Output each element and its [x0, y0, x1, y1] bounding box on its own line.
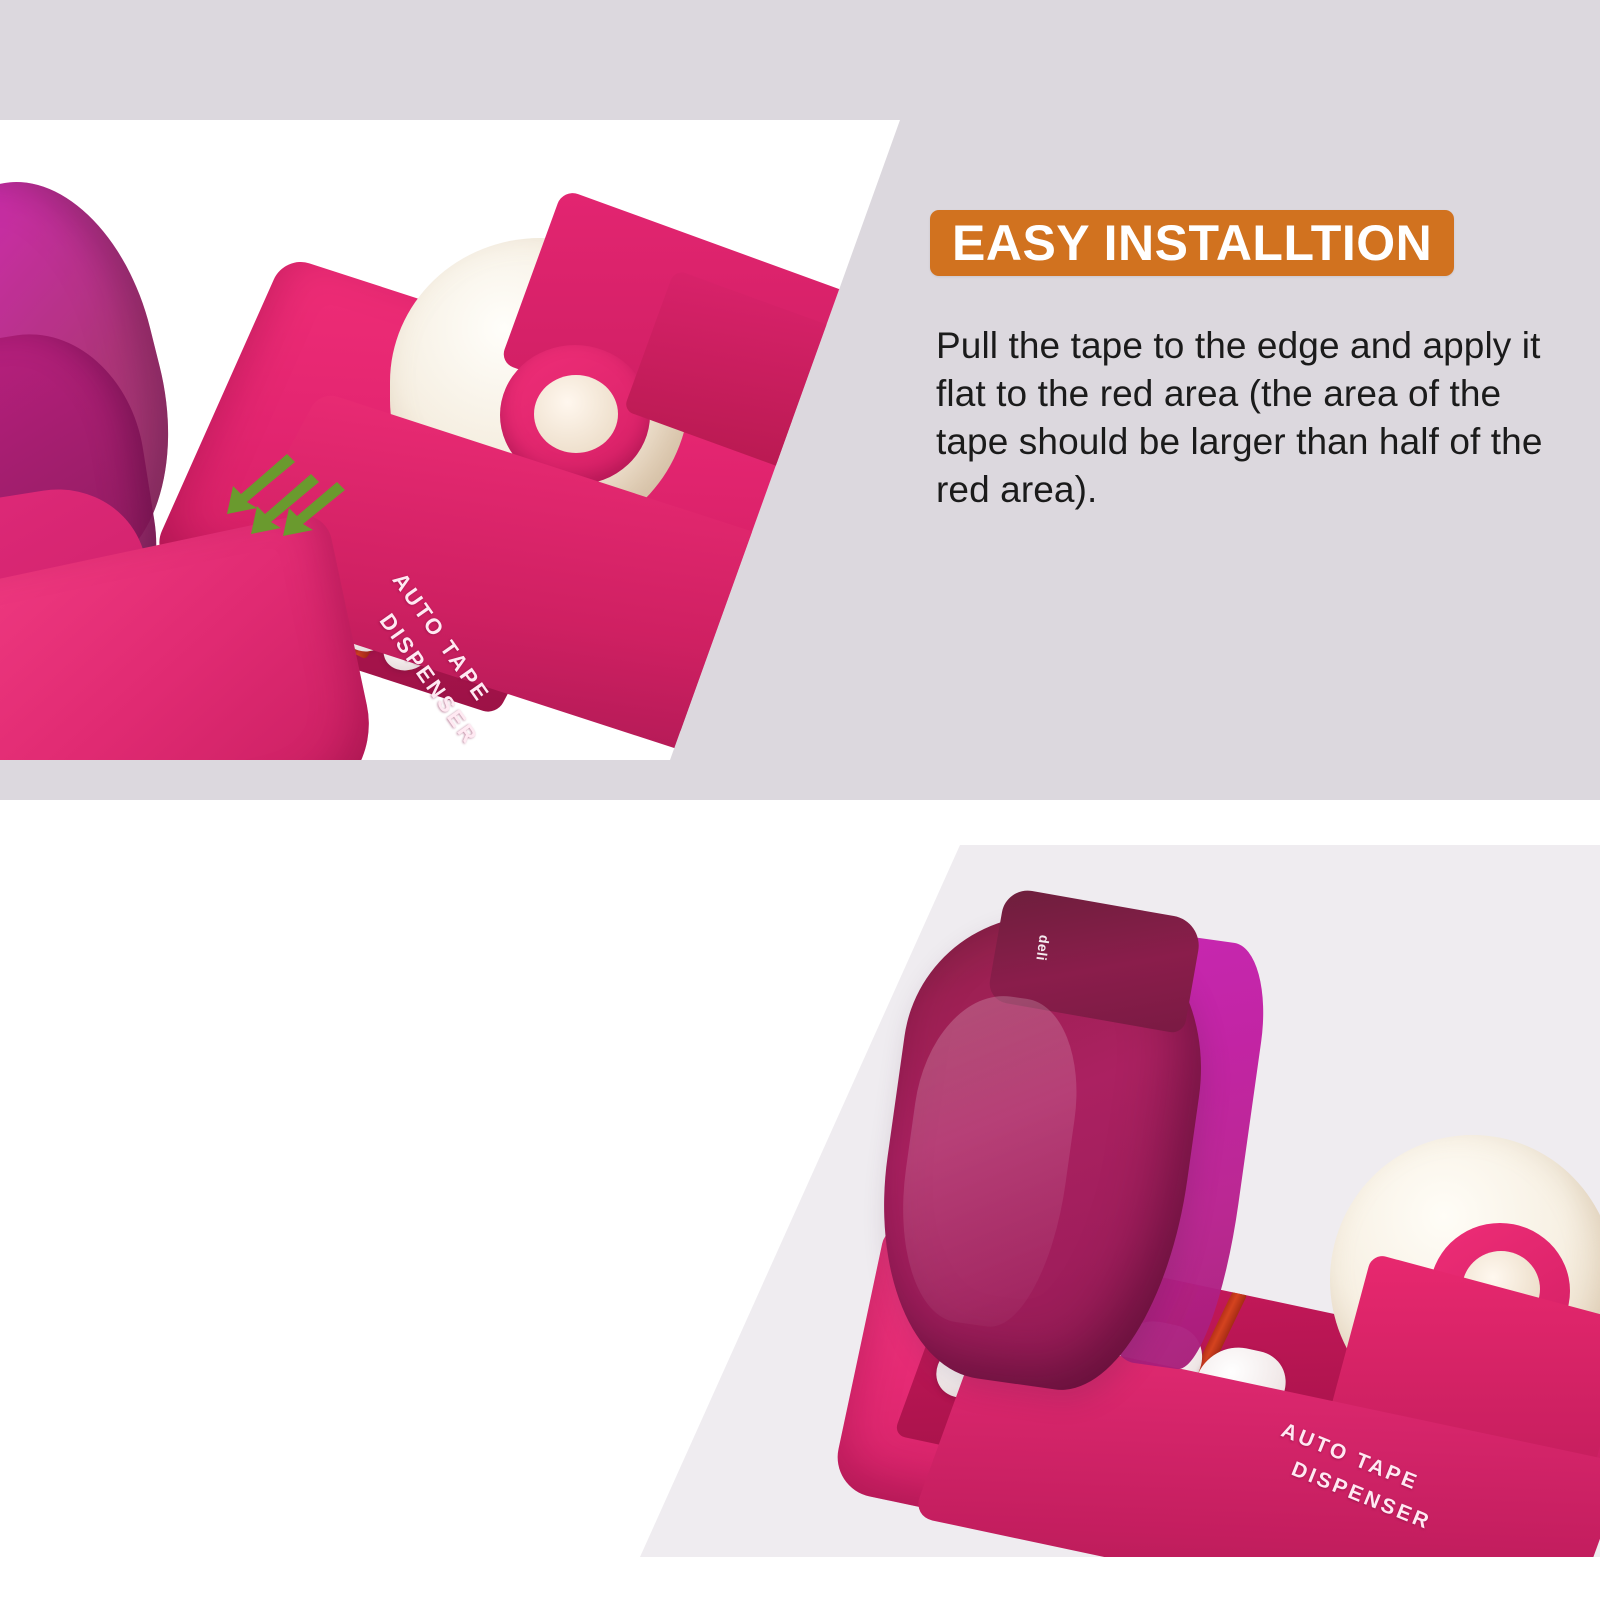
infographic-page: AUTO TAPE DISPENSER EASY INSTALLTION [0, 0, 1600, 1600]
tape-roll-hub [534, 375, 618, 453]
body-text-installation: Pull the tape to the edge and apply it f… [936, 322, 1556, 514]
product-photo-cover: deli AUTO TAPE DISPENSER [640, 845, 1600, 1557]
heading-badge-installation: EASY INSTALLTION [930, 210, 1454, 276]
heading-text: EASY INSTALLTION [952, 214, 1432, 272]
direction-arrows [225, 452, 345, 552]
section-easy-installation: AUTO TAPE DISPENSER EASY INSTALLTION [0, 0, 1600, 800]
section-translucent-cover: deli AUTO TAPE DISPENSER TRANSLUCENT COV… [0, 800, 1600, 1600]
photo-artwork: AUTO TAPE DISPENSER [0, 120, 950, 760]
green-arrow-icon [225, 452, 345, 552]
photo-artwork: deli AUTO TAPE DISPENSER [640, 845, 1600, 1557]
product-photo-installation: AUTO TAPE DISPENSER [0, 120, 950, 760]
